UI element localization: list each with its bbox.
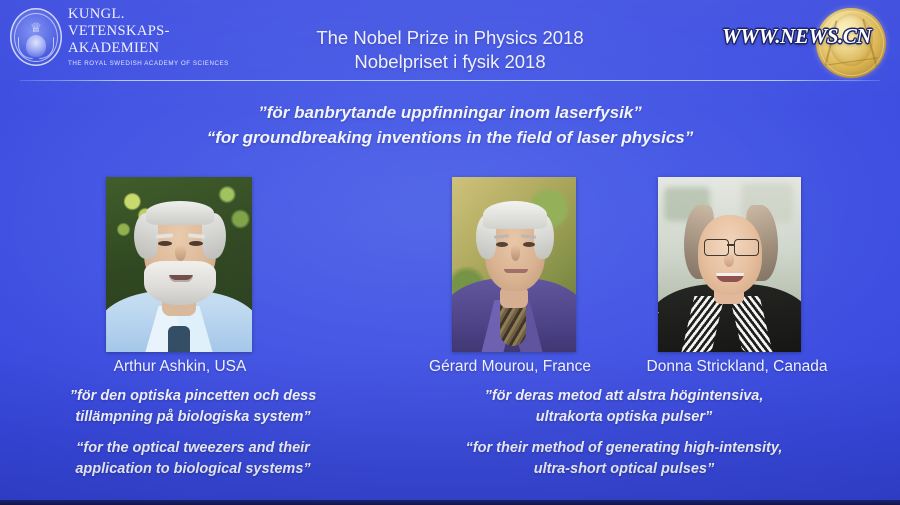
- photo-eyeglass-bridge: [727, 244, 734, 246]
- prize-citation: ”för banbrytande uppfinningar inom laser…: [0, 100, 900, 150]
- photo-eyeglass-right: [734, 239, 759, 256]
- photo-beard: [144, 261, 216, 305]
- news-watermark: WWW.NEWS.CN: [722, 2, 894, 82]
- title-english: The Nobel Prize in Physics 2018: [316, 27, 583, 48]
- photo-hair-top: [146, 201, 214, 225]
- photo-eye-right: [523, 242, 535, 247]
- photo-eye-left: [158, 241, 172, 246]
- laureate-name-strickland: Donna Strickland, Canada: [612, 358, 862, 376]
- motivation-mourou-strickland: ”för deras metod att alstra högintensiva…: [418, 386, 830, 480]
- photo-hair-top: [483, 201, 547, 229]
- motivation-shared-sv-line2: ultrakorta optiska pulser”: [536, 409, 712, 425]
- photo-eye-left: [496, 242, 508, 247]
- laureate-name-mourou: Gérard Mourou, France: [400, 358, 620, 376]
- header-divider: [20, 80, 880, 81]
- photo-mouth: [169, 275, 193, 282]
- laureate-photo-strickland: Photo: University of Waterloo: [658, 177, 801, 352]
- motivation-ashkin-sv-line1: ”för den optiska pincetten och dess: [70, 388, 317, 404]
- photo-nose: [511, 245, 520, 261]
- screen-bottom-edge: [0, 500, 900, 505]
- photo-credit-mourou: Photo: ELSA Lab: [452, 311, 453, 349]
- laureate-photo-ashkin: Photo: Mike Ashkin: [106, 177, 252, 352]
- photo-nose: [175, 245, 186, 261]
- photo-nose: [724, 253, 734, 267]
- photo-credit-strickland: Photo: University of Waterloo: [658, 284, 659, 349]
- photo-eye-right: [189, 241, 203, 246]
- photo-mouth: [504, 269, 528, 273]
- photo-credit-ashkin: Photo: Mike Ashkin: [106, 306, 107, 349]
- motivation-ashkin-sv-line2: tillämpning på biologiska system”: [75, 409, 310, 425]
- motivation-ashkin-en-line1: “for the optical tweezers and their: [76, 440, 310, 456]
- academy-name-line-1: KUNGL.: [68, 6, 176, 23]
- laureate-name-ashkin: Arthur Ashkin, USA: [60, 358, 300, 376]
- photo-hair-top: [692, 201, 768, 231]
- photo-shirt-opening: [168, 326, 190, 352]
- nobel-prize-announcement-slide: ♕ KUNGL. VETENSKAPS- AKADEMIEN THE ROYAL…: [0, 0, 900, 505]
- motivation-ashkin-en-line2: application to biological systems”: [75, 461, 310, 477]
- motivation-shared-en-line2: ultra-short optical pulses”: [534, 461, 714, 477]
- motivation-ashkin: ”för den optiska pincetten och dess till…: [18, 386, 368, 480]
- motivation-shared-sv-line1: ”för deras metod att alstra högintensiva…: [485, 388, 764, 404]
- watermark-url-text: WWW.NEWS.CN: [722, 24, 882, 49]
- citation-swedish: ”för banbrytande uppfinningar inom laser…: [0, 100, 900, 125]
- laureate-photo-mourou: Photo: ELSA Lab: [452, 177, 576, 352]
- citation-english: “for groundbreaking inventions in the fi…: [0, 125, 900, 150]
- motivation-shared-en-line1: “for their method of generating high-int…: [466, 440, 783, 456]
